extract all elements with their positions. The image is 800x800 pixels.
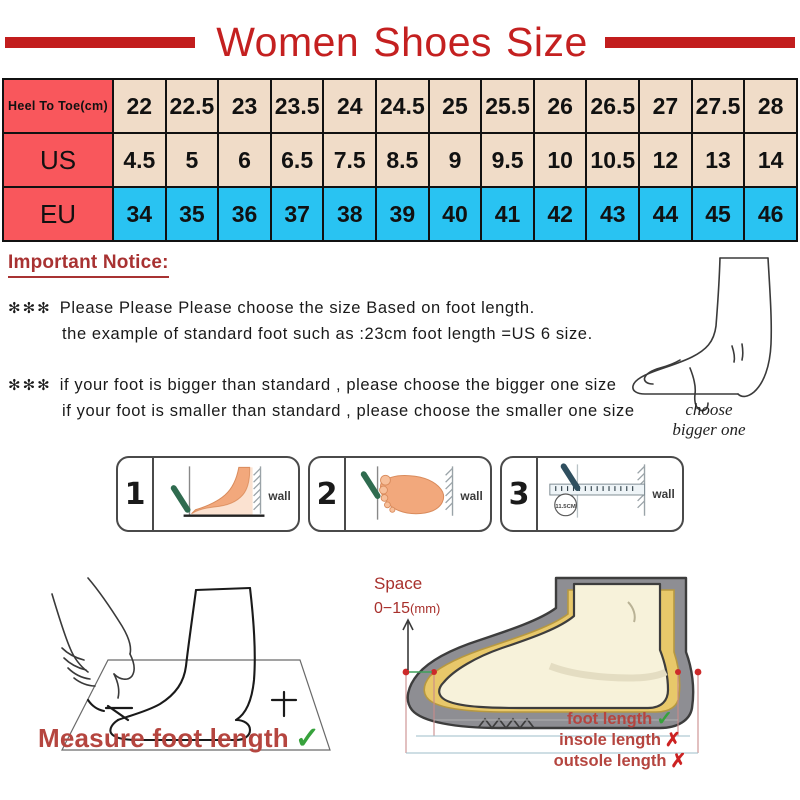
table-row-eu: EU 34 35 36 37 38 39 40 41 42 43 44 45 4… [3,187,797,241]
table-cell: 12 [639,133,692,187]
measure-foot-panel: Measure foot length ✓ [0,548,360,780]
table-cell: 41 [481,187,534,241]
notice-text: Please Please Please choose the size Bas… [60,299,535,317]
foot-caption: choose bigger one [644,400,774,439]
table-cell: 6 [218,133,271,187]
space-unit: (mm) [410,601,440,616]
notice-stars: ✻✻✻ [8,300,52,317]
row-header-eu: EU [3,187,113,241]
table-cell: 37 [271,187,324,241]
length-label: outsole length [554,751,667,772]
table-cell: 27.5 [692,79,745,133]
row-header-heel-to-toe: Heel To Toe(cm) [3,79,113,133]
notice-stars: ✻✻✻ [8,377,52,394]
wall-label: wall [267,489,290,503]
foot-side-view-icon: wall [154,458,298,530]
table-cell: 25 [429,79,482,133]
step-panel-2: 2 wall [308,456,492,532]
table-cell: 40 [429,187,482,241]
measurement-steps: 1 wall 2 [0,456,800,542]
step-panel-3: 3 [500,456,684,532]
important-notice-section: Important Notice: ✻✻✻Please Please Pleas… [0,242,800,454]
table-cell: 35 [166,187,219,241]
step-illustration-2: wall [346,458,490,530]
foot-top-view-icon: wall [346,458,490,530]
size-table: Heel To Toe(cm) 22 22.5 23 23.5 24 24.5 … [2,78,798,242]
size-table-wrap: Heel To Toe(cm) 22 22.5 23 23.5 24 24.5 … [0,78,800,242]
table-cell: 44 [639,187,692,241]
table-cell: 46 [744,187,797,241]
title-word-size: Size [506,19,588,65]
table-cell: 28 [744,79,797,133]
table-cell: 38 [323,187,376,241]
table-cell: 22 [113,79,166,133]
table-cell: 36 [218,187,271,241]
notice-text: if your foot is bigger than standard , p… [60,376,617,394]
step-number: 3 [502,458,538,530]
table-cell: 39 [376,187,429,241]
space-label-line2: 0−15(mm) [374,597,440,620]
title-text: WomenShoesSize [209,19,595,66]
title-bar-left [5,37,195,48]
title-bar-right [605,37,795,48]
table-cell: 10 [534,133,587,187]
row-header-us: US [3,133,113,187]
cross-icon: ✗ [670,752,686,771]
table-cell: 9.5 [481,133,534,187]
step-illustration-1: wall [154,458,298,530]
table-cell: 43 [586,187,639,241]
space-label: Space 0−15(mm) [374,572,440,620]
length-label: insole length [559,730,661,751]
table-cell: 7.5 [323,133,376,187]
step-number: 1 [118,458,154,530]
table-cell: 26.5 [586,79,639,133]
foot-caption-line1: choose [644,400,774,420]
table-cell: 26 [534,79,587,133]
foot-caption-line2: bigger one [644,420,774,440]
table-cell: 4.5 [113,133,166,187]
bottom-illustrations: Measure foot length ✓ [0,548,800,780]
step-panel-1: 1 wall [116,456,300,532]
cross-icon: ✗ [665,731,681,750]
table-cell: 42 [534,187,587,241]
length-row-outsole: outsole length ✗ [470,751,770,772]
wall-label: wall [651,487,674,501]
table-cell: 25.5 [481,79,534,133]
length-row-insole: insole length ✗ [470,730,770,751]
table-cell: 9 [429,133,482,187]
title-word-women: Women [216,19,359,65]
size-chart-page: WomenShoesSize Heel To Toe(cm) 22 22.5 2… [0,0,800,800]
table-cell: 23 [218,79,271,133]
table-cell: 22.5 [166,79,219,133]
title-word-shoes: Shoes [373,19,492,65]
table-cell: 10.5 [586,133,639,187]
table-cell: 24.5 [376,79,429,133]
measure-label-text: Measure foot length [38,723,289,754]
table-cell: 14 [744,133,797,187]
length-row-foot: foot length ✓ [470,709,770,730]
table-cell: 45 [692,187,745,241]
table-cell: 27 [639,79,692,133]
shoe-cross-section-panel: Space 0−15(mm) foot length ✓ insole leng… [360,548,800,780]
check-icon: ✓ [295,724,320,754]
space-range: 0−15 [374,600,410,617]
notice-heading: Important Notice: [8,252,169,278]
table-row-us: US 4.5 5 6 6.5 7.5 8.5 9 9.5 10 10.5 12 … [3,133,797,187]
table-cell: 6.5 [271,133,324,187]
table-row-cm: Heel To Toe(cm) 22 22.5 23 23.5 24 24.5 … [3,79,797,133]
page-title: WomenShoesSize [0,0,800,78]
ruler-icon: 11.5CM wall [538,458,682,530]
table-cell: 5 [166,133,219,187]
table-cell: 13 [692,133,745,187]
measure-foot-length-label: Measure foot length ✓ [38,723,320,754]
table-cell: 34 [113,187,166,241]
check-icon: ✓ [656,709,673,729]
step-illustration-3: 11.5CM wall [538,458,682,530]
space-label-line1: Space [374,572,440,597]
ruler-badge: 11.5CM [555,504,575,510]
length-labels: foot length ✓ insole length ✗ outsole le… [470,709,770,772]
table-cell: 8.5 [376,133,429,187]
table-cell: 24 [323,79,376,133]
wall-label: wall [459,489,482,503]
table-cell: 23.5 [271,79,324,133]
step-number: 2 [310,458,346,530]
length-label: foot length [567,709,652,730]
